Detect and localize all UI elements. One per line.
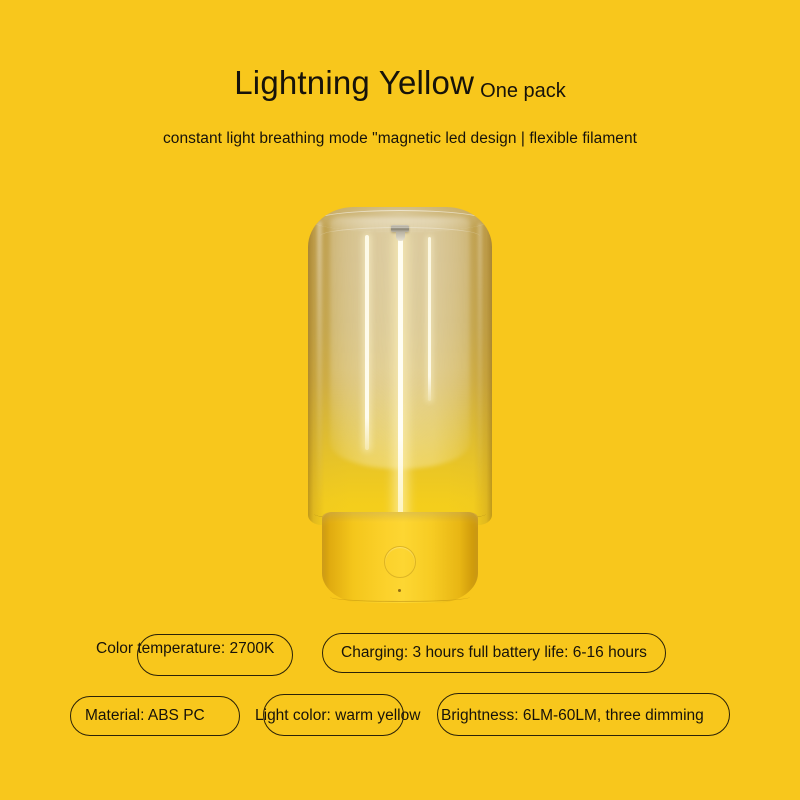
glass-highlight-right: [478, 223, 482, 508]
led-filament-right: [428, 237, 431, 401]
page-title: Lightning YellowOne pack: [0, 66, 800, 99]
base-top-shadow: [322, 512, 478, 522]
product-subtitle: constant light breathing mode "magnetic …: [0, 130, 800, 148]
spec-label-material: Material: ABS PC: [85, 708, 205, 724]
spec-label-charging: Charging: 3 hours full battery life: 6-1…: [341, 645, 647, 661]
led-filament-center: [398, 235, 403, 523]
glass-highlight-left: [317, 221, 322, 511]
led-filament-left: [365, 235, 369, 450]
product-listing-image: Lightning YellowOne pack constant light …: [0, 0, 800, 800]
product-lamp: [308, 207, 492, 596]
glass-cylinder-shade: [308, 207, 492, 525]
base-bottom-rim: [330, 592, 470, 602]
power-button[interactable]: [384, 546, 416, 578]
glass-inner-rim: [320, 227, 480, 245]
spec-label-light-color: Light color: warm yellow: [255, 708, 420, 724]
spec-label-brightness: Brightness: 6LM-60LM, three dimming: [441, 708, 704, 724]
lamp-base: [322, 512, 478, 603]
product-title: Lightning Yellow: [234, 64, 474, 101]
spec-label-color-temperature: Color temperature: 2700K: [96, 641, 274, 657]
pack-label: One pack: [480, 80, 566, 102]
